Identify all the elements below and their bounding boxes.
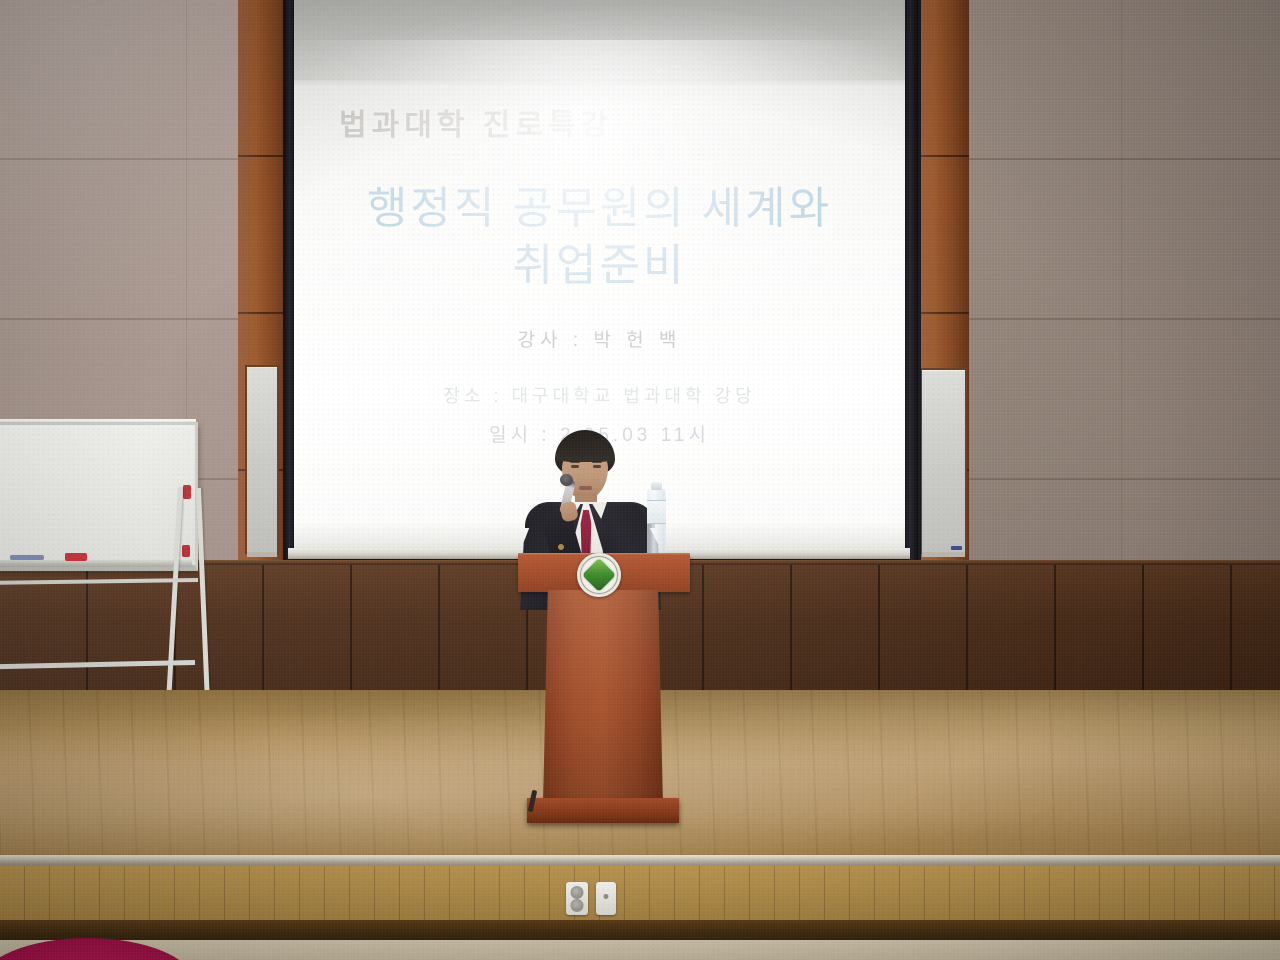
panel-tray-right [922,552,965,557]
university-seal-emblem-icon [577,553,621,597]
panel-marker [951,546,962,550]
mobile-whiteboard [0,422,198,571]
slide-venue-line: 장소 : 대구대학교 법과대학 강당 [294,382,905,408]
screen-edge-right [905,0,918,560]
slide-title: 행정직 공무원의 세계와 취업준비 [294,180,905,294]
lecture-hall-photo: 법과대학 진로특강 행정직 공무원의 세계와 취업준비 강사 : 박 헌 백 장… [0,0,1280,960]
wall-panel-left [245,365,279,554]
podium-base [527,798,679,823]
speaker-eyebrow-left [570,461,580,463]
speaker-lapel-pin [558,544,564,550]
slide-speaker-line: 강사 : 박 헌 백 [294,325,905,352]
podium-body [543,590,663,806]
whiteboard-pen-tray [0,560,192,567]
outlet-socket-upper [571,886,584,899]
speaker-eyebrow-right [592,461,602,463]
water-bottle [647,489,666,557]
screen-edge-left [283,0,294,560]
screen-band-glow [294,0,905,80]
speaker-eye-right [593,465,601,468]
speaker-mouth [579,486,592,490]
whiteboard-marker [10,555,44,560]
panel-tray-left [247,552,277,557]
outlet-socket-lower [571,899,584,912]
slide-title-line-2: 취업준비 [294,237,905,294]
whiteboard-eraser [65,553,87,561]
stage-baseboard [0,920,1280,942]
speaker-eye-left [571,465,579,468]
slide-title-line-1: 행정직 공무원의 세계와 [294,180,905,237]
water-bottle-cap [651,482,662,490]
power-outlet-single [596,882,616,915]
water-bottle-label [647,500,666,524]
wall-panel-right [920,368,967,554]
whiteboard-clip-upper [183,485,191,499]
outlet-switch-dot [604,894,609,899]
hall-floor [0,940,1280,960]
slide-kicker-text: 법과대학 진로특강 [339,100,613,144]
power-outlet-duplex [566,882,588,915]
whiteboard-clip-lower [182,545,190,557]
